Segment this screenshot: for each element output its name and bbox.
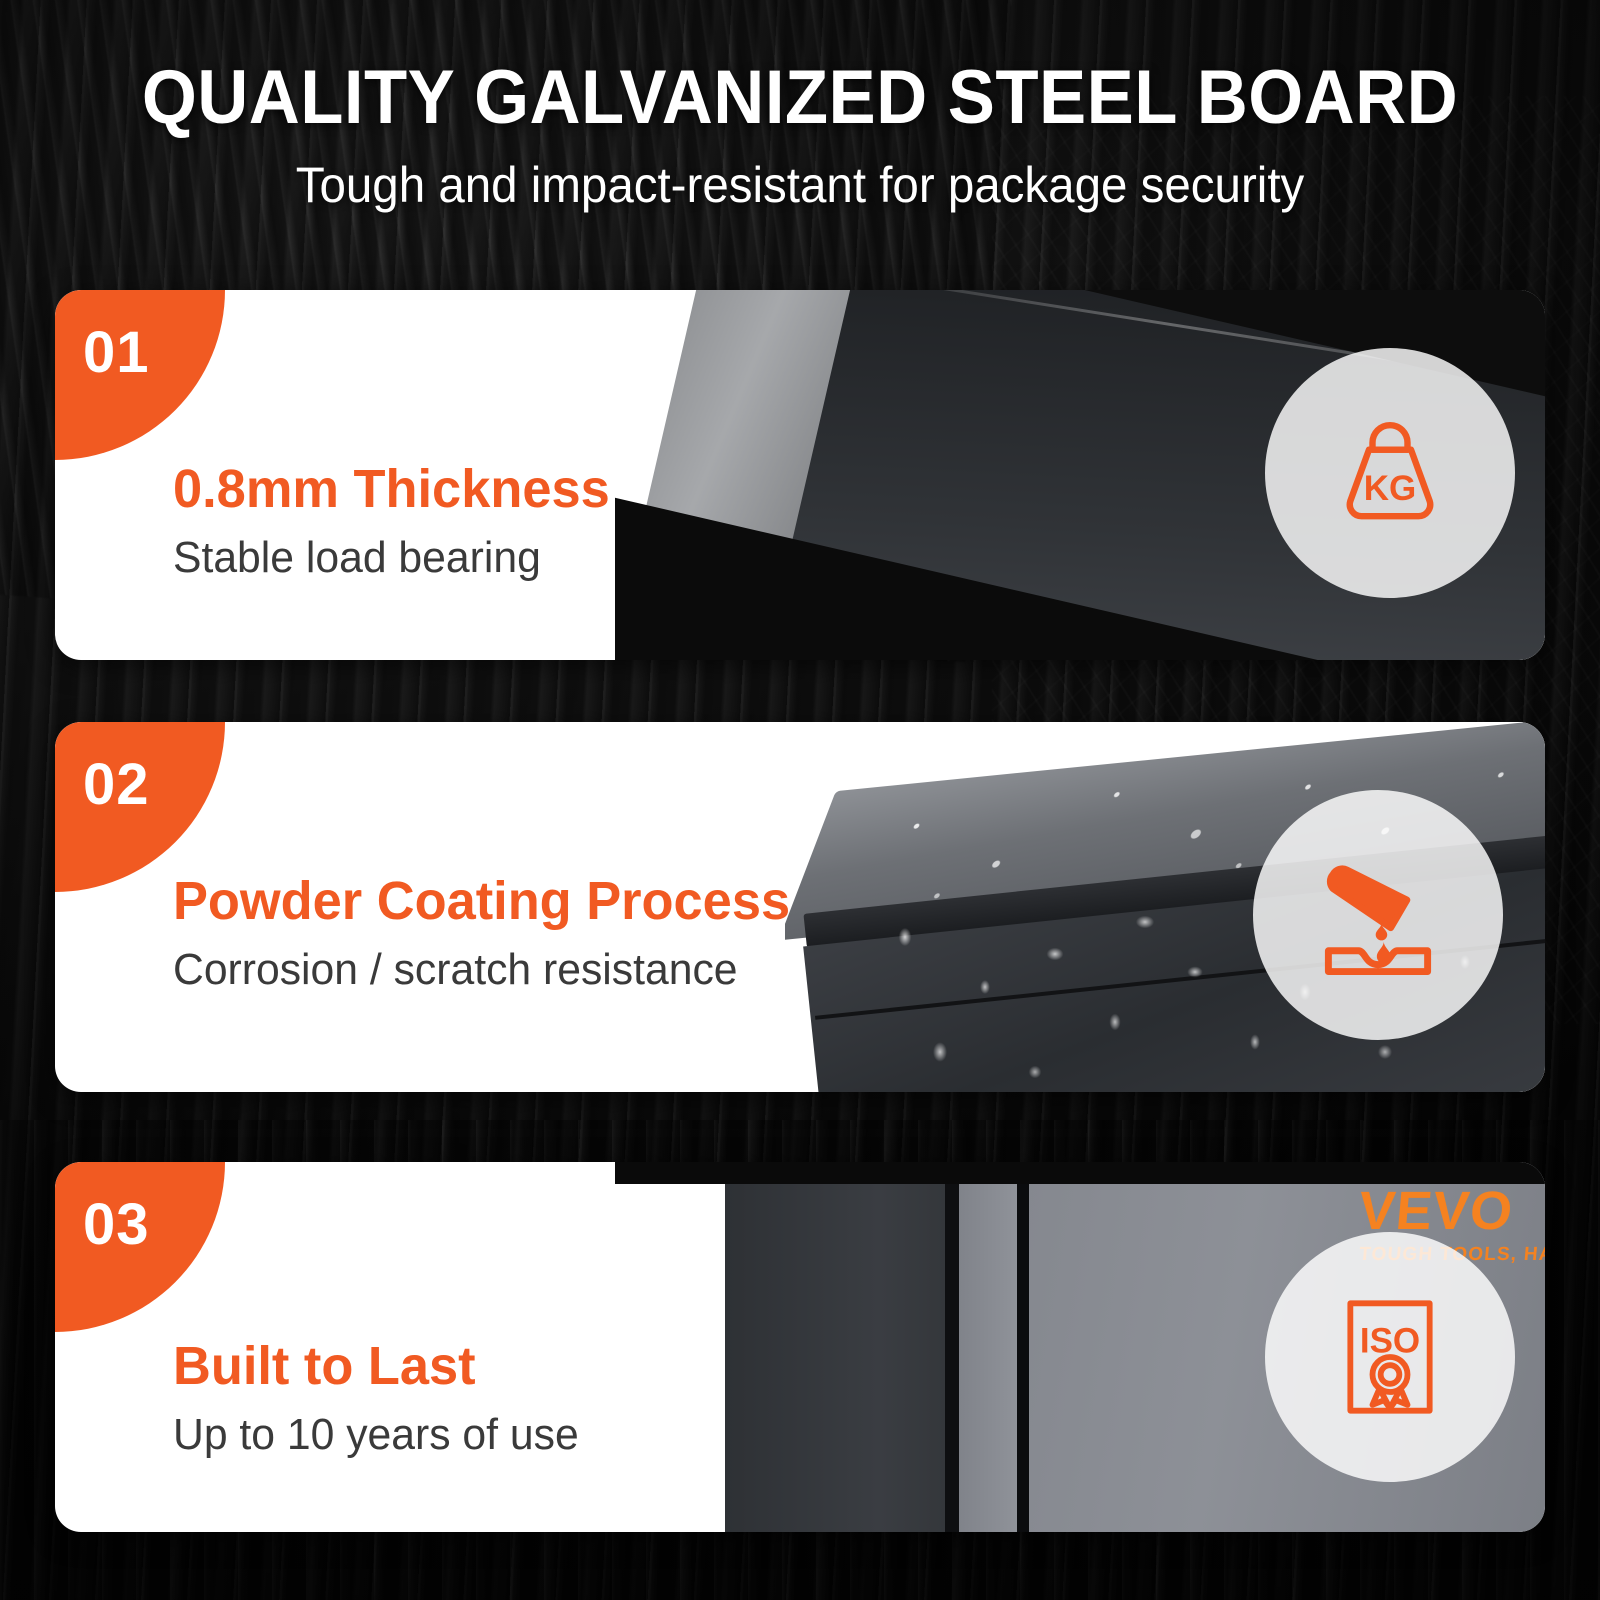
badge-number-label: 02 <box>83 756 150 814</box>
product-feature-poster: QUALITY GALVANIZED STEEL BOARD Tough and… <box>0 0 1600 1600</box>
panel-gap <box>945 1162 959 1532</box>
pour-scoop <box>1330 869 1406 928</box>
feature-subline: Stable load bearing <box>173 533 610 584</box>
panel-gap-2 <box>1017 1162 1029 1532</box>
weight-handle <box>1373 425 1408 450</box>
feature-headline: 0.8mm Thickness <box>173 460 610 519</box>
panel-dark <box>725 1162 945 1532</box>
badge-number-label: 03 <box>83 1196 150 1254</box>
badge-number-3: 03 <box>55 1162 225 1332</box>
feature-text-3: Built to Last Up to 10 years of use <box>173 1337 591 1461</box>
feature-card-2: 02 Powder Coating Process Corrosion / sc… <box>55 722 1545 1092</box>
feature-headline: Built to Last <box>173 1337 579 1396</box>
feature-card-3: VEVO TOUGH TOOLS, HALF 03 Built to Last … <box>55 1162 1545 1532</box>
powder-coating-pour-icon <box>1253 790 1503 1040</box>
badge-number-label: 01 <box>83 324 150 382</box>
feature-text-2: Powder Coating Process Corrosion / scrat… <box>173 872 809 996</box>
iso-certificate-icon: ISO <box>1265 1232 1515 1482</box>
feature-subline: Up to 10 years of use <box>173 1410 579 1461</box>
photo-backdrop <box>615 1162 725 1532</box>
feature-card-1: 01 0.8mm Thickness Stable load bearing K… <box>55 290 1545 660</box>
panel-mid <box>959 1162 1017 1532</box>
badge-number-2: 02 <box>55 722 225 892</box>
feature-subline: Corrosion / scratch resistance <box>173 945 790 996</box>
feature-text-1: 0.8mm Thickness Stable load bearing <box>173 460 623 584</box>
weight-kg-label: KG <box>1364 469 1417 508</box>
weight-kg-icon: KG <box>1265 348 1515 598</box>
page-title: QUALITY GALVANIZED STEEL BOARD <box>56 58 1544 138</box>
poster-header: QUALITY GALVANIZED STEEL BOARD Tough and… <box>0 58 1600 214</box>
feature-headline: Powder Coating Process <box>173 872 790 931</box>
page-subtitle: Tough and impact-resistant for package s… <box>40 156 1560 214</box>
badge-number-1: 01 <box>55 290 225 460</box>
award-seal-inner <box>1381 1365 1400 1384</box>
vevor-wordmark: VEVO <box>1356 1184 1545 1238</box>
